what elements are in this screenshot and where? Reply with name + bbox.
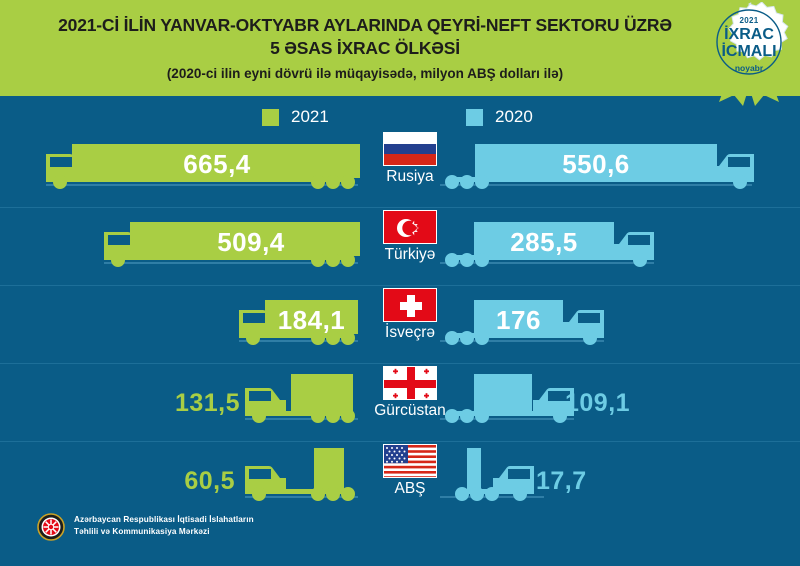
- russia-flag: [383, 132, 437, 166]
- value-2021: 665,4: [72, 149, 362, 180]
- legend-item-2021: 2021: [262, 107, 329, 127]
- ixrac-icmali-badge: 2021 İXRAC İCMALI noyabr: [703, 2, 795, 106]
- value-2021: 131,5: [160, 389, 240, 418]
- value-2021: 60,5: [160, 467, 235, 496]
- georgia-crosses-icon: [384, 367, 437, 400]
- value-2021: 509,4: [130, 227, 372, 258]
- value-2020: 285,5: [474, 227, 614, 258]
- table-row: 131,5 Gürcüstan: [0, 364, 800, 442]
- page-title-line2: 5 ƏSAS İXRAC ÖLKƏSİ: [30, 37, 700, 60]
- infographic-page: 2021-Cİ İLİN YANVAR-OKTYABR AYLARINDA QE…: [0, 0, 800, 566]
- table-row: 665,4 Rusiya 550,6: [0, 130, 800, 208]
- legend-label-2020: 2020: [495, 107, 533, 127]
- value-2020: 109,1: [565, 389, 675, 418]
- turkey-crescent-star-icon: [384, 211, 437, 244]
- badge-month: noyabr: [703, 63, 795, 73]
- badge-line1: İXRAC: [703, 26, 795, 44]
- legend-swatch-2020: [466, 109, 483, 126]
- value-2021: 184,1: [263, 305, 360, 336]
- organization-name-line1: Azərbaycan Respublikası İqtisadi İslahat…: [74, 514, 254, 526]
- usa-flag: [383, 444, 437, 478]
- organization-emblem-icon: [36, 512, 66, 542]
- legend-label-2021: 2021: [291, 107, 329, 127]
- badge-line2: İCMALI: [703, 43, 795, 61]
- legend-item-2020: 2020: [466, 107, 533, 127]
- page-subtitle: (2020-ci ilin eyni dövrü ilə müqayisədə,…: [30, 63, 700, 85]
- header-banner: 2021-Cİ İLİN YANVAR-OKTYABR AYLARINDA QE…: [0, 0, 800, 96]
- organization-name-line2: Təhlili və Kommunikasiya Mərkəzi: [74, 526, 254, 538]
- value-2020: 17,7: [536, 467, 646, 496]
- title-block: 2021-Cİ İLİN YANVAR-OKTYABR AYLARINDA QE…: [30, 14, 700, 85]
- value-2020: 550,6: [475, 149, 717, 180]
- legend-swatch-2021: [262, 109, 279, 126]
- table-row: 184,1 İsveçrə 176: [0, 286, 800, 364]
- georgia-flag: [383, 366, 437, 400]
- table-row: 509,4 Türkiyə: [0, 208, 800, 286]
- turkey-flag: [383, 210, 437, 244]
- page-title-line1: 2021-Cİ İLİN YANVAR-OKTYABR AYLARINDA QE…: [30, 14, 700, 37]
- switzerland-flag: [383, 288, 437, 322]
- badge-year: 2021: [703, 16, 795, 25]
- footer: Azərbaycan Respublikası İqtisadi İslahat…: [0, 504, 800, 566]
- chart-rows: 665,4 Rusiya 550,6: [0, 130, 800, 520]
- chart-legend: 2021 2020: [0, 104, 800, 130]
- usa-stars-stripes-icon: [384, 445, 437, 478]
- value-2020: 176: [474, 305, 563, 336]
- organization-name: Azərbaycan Respublikası İqtisadi İslahat…: [74, 514, 254, 537]
